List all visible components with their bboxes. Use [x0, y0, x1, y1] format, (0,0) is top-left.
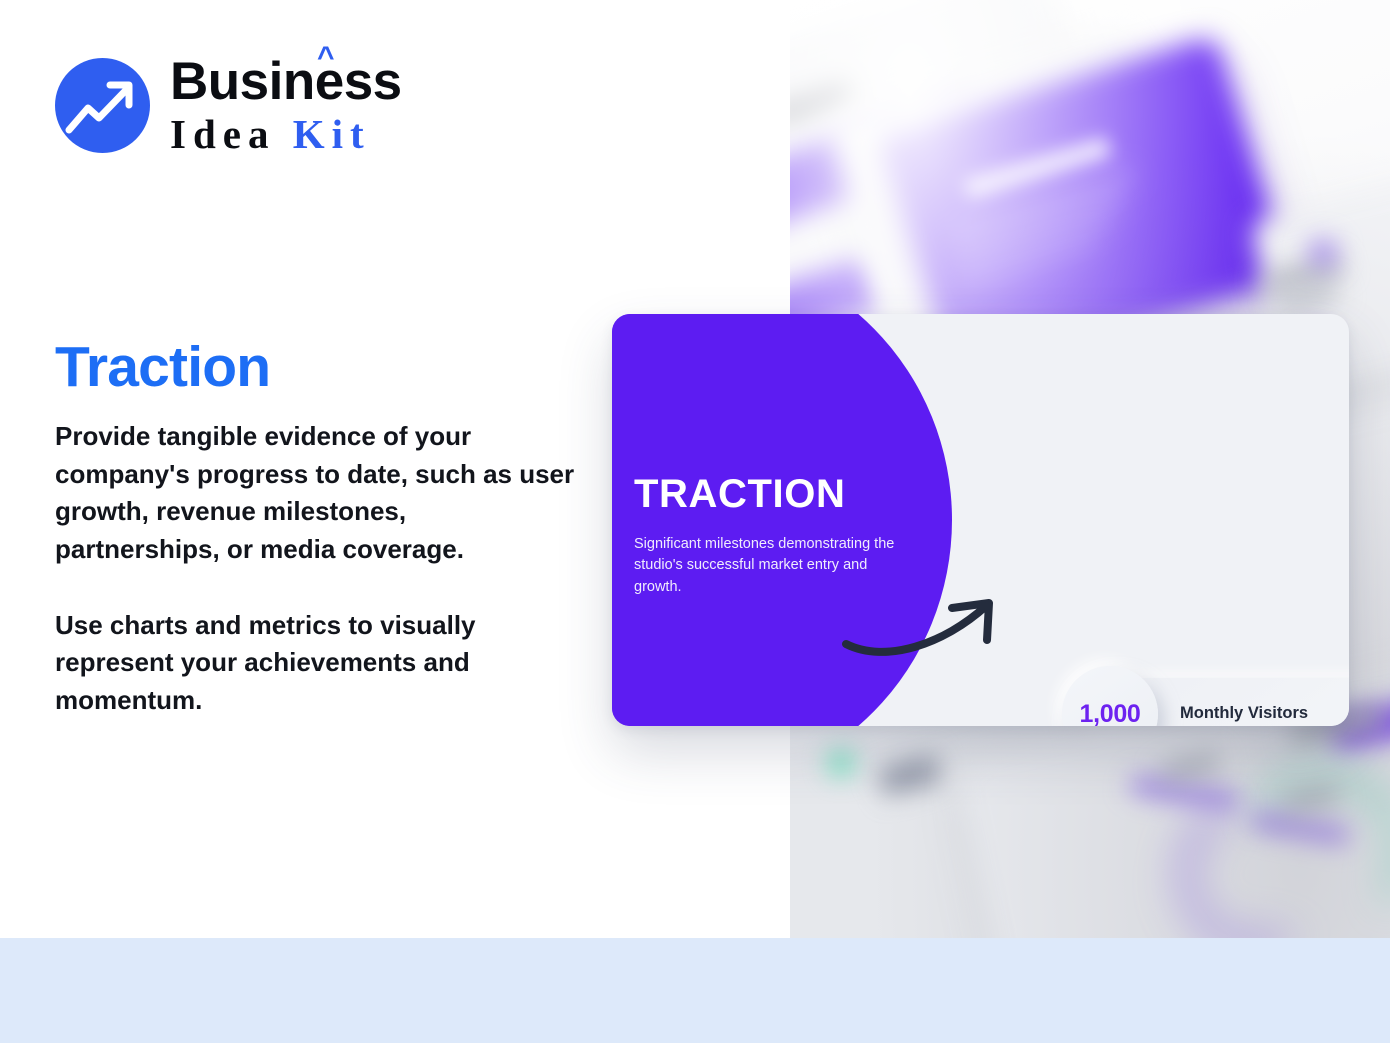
metric-value: 1,000	[1079, 700, 1140, 727]
slide-page: Business ^ Idea Kit Traction Provide tan…	[0, 0, 1390, 1043]
circumflex-accent-icon: ^	[317, 43, 334, 73]
brand-name-top-text: Business	[170, 52, 402, 111]
brand-name-bottom: Idea Kit	[170, 114, 402, 155]
brand-name-idea: Idea	[170, 111, 275, 157]
traction-card: TRACTION Significant milestones demonstr…	[612, 314, 1349, 726]
body-paragraph-1: Provide tangible evidence of your compan…	[55, 418, 575, 569]
curved-up-right-arrow-icon	[840, 586, 1020, 666]
card-heading: TRACTION	[634, 472, 845, 517]
brand-wordmark: Business ^ Idea Kit	[170, 55, 402, 155]
body-paragraph-2: Use charts and metrics to visually repre…	[55, 607, 575, 720]
metric-label: Monthly Visitors	[1180, 703, 1308, 724]
page-title: Traction	[55, 334, 270, 400]
brand-name-top: Business ^	[170, 55, 402, 108]
bottom-accent-band	[0, 938, 1390, 1043]
brand-name-kit: Kit	[293, 111, 371, 157]
brand-logo[interactable]: Business ^ Idea Kit	[55, 55, 402, 155]
bg-dot-icon	[1310, 240, 1336, 266]
metric-value-circle: 1,000	[1062, 666, 1158, 726]
bg-green-dot-icon	[830, 752, 852, 774]
growth-chart-circle-icon	[55, 58, 150, 153]
metric-row[interactable]: Monthly Visitors 1,000	[1062, 666, 1342, 726]
body-copy: Provide tangible evidence of your compan…	[55, 418, 575, 720]
